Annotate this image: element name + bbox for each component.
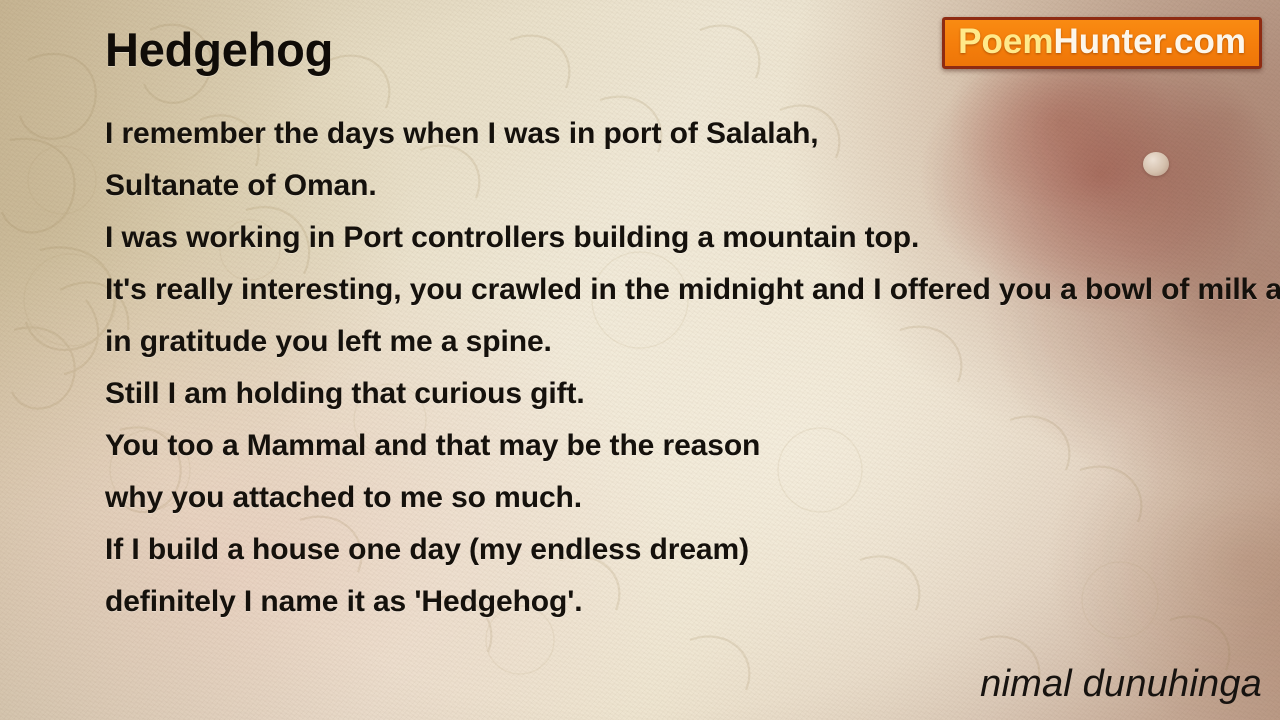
poem-line: You too a Mammal and that may be the rea…	[105, 420, 1280, 472]
poem-slide: PoemHunter.com Hedgehog I remember the d…	[0, 0, 1280, 720]
poem-text: I remember the days when I was in port o…	[105, 108, 1280, 628]
poem-line: If I build a house one day (my endless d…	[105, 524, 1280, 576]
poem-line: I was working in Port controllers buildi…	[105, 212, 1280, 264]
poem-line: Still I am holding that curious gift.	[105, 368, 1280, 420]
poem-line: in gratitude you left me a spine.	[105, 316, 1280, 368]
poem-line: definitely I name it as 'Hedgehog'.	[105, 576, 1280, 628]
poemhunter-logo[interactable]: PoemHunter.com	[942, 17, 1262, 69]
poem-line: Sultanate of Oman.	[105, 160, 1280, 212]
logo-text-hunter: Hunter.com	[1053, 24, 1246, 59]
poem-author: nimal dunuhinga	[980, 663, 1262, 706]
poem-line: why you attached to me so much.	[105, 472, 1280, 524]
page-title: Hedgehog	[105, 22, 333, 77]
poem-line: It's really interesting, you crawled in …	[105, 264, 1280, 316]
logo-text-poem: Poem	[958, 24, 1053, 59]
poem-line: I remember the days when I was in port o…	[105, 108, 1280, 160]
